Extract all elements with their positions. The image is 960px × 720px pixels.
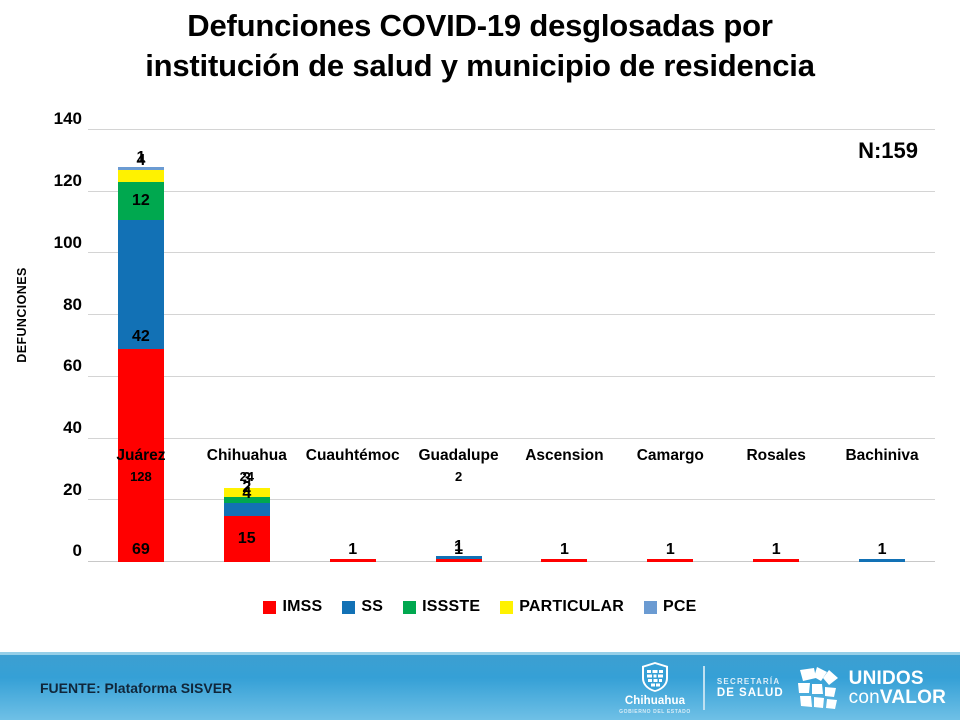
x-axis-category: Chihuahua24 xyxy=(194,447,300,484)
legend-label: PCE xyxy=(663,598,697,616)
chart-legend: IMSSSSISSSTEPARTICULARPCE xyxy=(0,598,960,616)
bar-segment-ss[interactable]: 1 xyxy=(859,559,905,562)
x-axis-category-name: Guadalupe xyxy=(406,447,512,465)
bar-stack: 1 xyxy=(330,559,376,562)
x-axis-category: Ascension xyxy=(512,447,618,465)
gridline xyxy=(88,191,935,192)
x-axis-category-name: Ascension xyxy=(512,447,618,465)
page-title-line-1: Defunciones COVID-19 desglosadas por xyxy=(14,6,946,46)
x-axis-category: Guadalupe2 xyxy=(406,447,512,484)
x-axis-category-total: 2 xyxy=(406,469,512,484)
footer-logos: Chihuahua GOBIERNO DEL ESTADO SECRETARÍA… xyxy=(619,661,946,715)
x-axis-category-name: Camargo xyxy=(617,447,723,465)
bar-segment-imss[interactable]: 15 xyxy=(224,516,270,562)
page-title: Defunciones COVID-19 desglosadas por ins… xyxy=(0,6,960,85)
x-axis-category-name: Chihuahua xyxy=(194,447,300,465)
source-text: FUENTE: Plataforma SISVER xyxy=(40,680,232,696)
bar-segment-label: 12 xyxy=(118,193,164,209)
secretaria-line-2: DE SALUD xyxy=(717,687,784,699)
secretaria-line-1: SECRETARÍA xyxy=(717,677,784,686)
bar-segment-label: 1 xyxy=(859,542,905,558)
legend-item-issste[interactable]: ISSSTE xyxy=(403,598,480,616)
chihuahua-logo: Chihuahua GOBIERNO DEL ESTADO xyxy=(619,661,691,715)
legend-label: SS xyxy=(361,598,383,616)
bar-segment-label: 15 xyxy=(224,531,270,547)
gridline xyxy=(88,438,935,439)
unidos-line-2: conVALOR xyxy=(849,688,946,707)
bar-stack: 11 xyxy=(436,556,482,562)
legend-item-ss[interactable]: SS xyxy=(342,598,383,616)
gridline xyxy=(88,376,935,377)
unidos-mark-icon xyxy=(796,666,842,710)
secretaria-de-salud-logo: SECRETARÍA DE SALUD xyxy=(717,677,784,699)
bar-stack: 1 xyxy=(647,559,693,562)
legend-label: ISSSTE xyxy=(422,598,480,616)
slide-root: Defunciones COVID-19 desglosadas por ins… xyxy=(0,0,960,720)
x-axis-category-total: 128 xyxy=(88,469,194,484)
unidos-line-1: UNIDOS xyxy=(849,669,946,688)
x-axis-category-name: Cuauhtémoc xyxy=(300,447,406,465)
x-axis-category-name: Juárez xyxy=(88,447,194,465)
bar-segment-imss[interactable]: 1 xyxy=(647,559,693,562)
bar-stack: 1 xyxy=(859,559,905,562)
legend-label: IMSS xyxy=(282,598,322,616)
x-axis-categories: Juárez128Chihuahua24CuauhtémocGuadalupe2… xyxy=(88,447,935,507)
legend-swatch-icon xyxy=(403,601,416,614)
unidos-con-valor-logo: UNIDOS conVALOR xyxy=(796,666,946,710)
x-axis-category: Camargo xyxy=(617,447,723,465)
chihuahua-logo-name: Chihuahua xyxy=(625,695,685,707)
bar-segment-label: 1 xyxy=(753,542,799,558)
shield-icon xyxy=(640,661,670,693)
bar-segment-particular[interactable]: 4 xyxy=(118,170,164,182)
bar-segment-imss[interactable]: 1 xyxy=(541,559,587,562)
x-axis-category: Rosales xyxy=(723,447,829,465)
y-axis-tick-label: 80 xyxy=(12,295,82,315)
gridline xyxy=(88,314,935,315)
bar-segment-label: 1 xyxy=(647,542,693,558)
legend-item-pce[interactable]: PCE xyxy=(644,598,697,616)
y-axis-tick-label: 0 xyxy=(12,541,82,561)
y-axis-tick-label: 140 xyxy=(12,109,82,129)
bar-segment-imss[interactable]: 1 xyxy=(330,559,376,562)
bar-segment-label: 4 xyxy=(118,153,164,169)
legend-swatch-icon xyxy=(644,601,657,614)
bar-stack: 1 xyxy=(753,559,799,562)
legend-item-imss[interactable]: IMSS xyxy=(263,598,322,616)
chart-area: DEFUNCIONES 020406080100120140 N:159 141… xyxy=(0,118,960,630)
bar-segment-label: 1 xyxy=(436,542,482,558)
y-axis-tick-label: 100 xyxy=(12,233,82,253)
logo-divider xyxy=(703,666,705,710)
bar-segment-label: 42 xyxy=(118,329,164,345)
legend-swatch-icon xyxy=(263,601,276,614)
x-axis-category-total: 24 xyxy=(194,469,300,484)
gridline xyxy=(88,129,935,130)
legend-item-particular[interactable]: PARTICULAR xyxy=(500,598,624,616)
bar-stack: 1 xyxy=(541,559,587,562)
gridline xyxy=(88,561,935,562)
y-axis-tick-label: 40 xyxy=(12,418,82,438)
bar-segment-imss[interactable]: 1 xyxy=(753,559,799,562)
bar-segment-ss[interactable]: 42 xyxy=(118,220,164,350)
bar-segment-imss[interactable]: 1 xyxy=(436,559,482,562)
unidos-con: con xyxy=(849,687,880,708)
x-axis-category-name: Rosales xyxy=(723,447,829,465)
chihuahua-logo-sub: GOBIERNO DEL ESTADO xyxy=(619,709,691,715)
page-title-line-2: institución de salud y municipio de resi… xyxy=(14,46,946,86)
unidos-wordmark: UNIDOS conVALOR xyxy=(849,669,946,707)
y-axis-tick-label: 20 xyxy=(12,480,82,500)
y-axis-tick-label: 60 xyxy=(12,356,82,376)
bar-segment-issste[interactable]: 12 xyxy=(118,182,164,219)
y-axis-ticks: 020406080100120140 xyxy=(0,130,82,562)
x-axis-category-name: Bachiniva xyxy=(829,447,935,465)
x-axis-category: Juárez128 xyxy=(88,447,194,484)
y-axis-tick-label: 120 xyxy=(12,171,82,191)
bar-segment-label: 1 xyxy=(541,542,587,558)
gridline xyxy=(88,252,935,253)
legend-swatch-icon xyxy=(500,601,513,614)
bar-segment-label: 69 xyxy=(118,542,164,558)
legend-swatch-icon xyxy=(342,601,355,614)
x-axis-category: Cuauhtémoc xyxy=(300,447,406,465)
legend-label: PARTICULAR xyxy=(519,598,624,616)
unidos-valor: VALOR xyxy=(880,687,946,708)
footer-bar: FUENTE: Plataforma SISVER xyxy=(0,652,960,720)
bar-segment-label: 1 xyxy=(330,542,376,558)
x-axis-category: Bachiniva xyxy=(829,447,935,465)
